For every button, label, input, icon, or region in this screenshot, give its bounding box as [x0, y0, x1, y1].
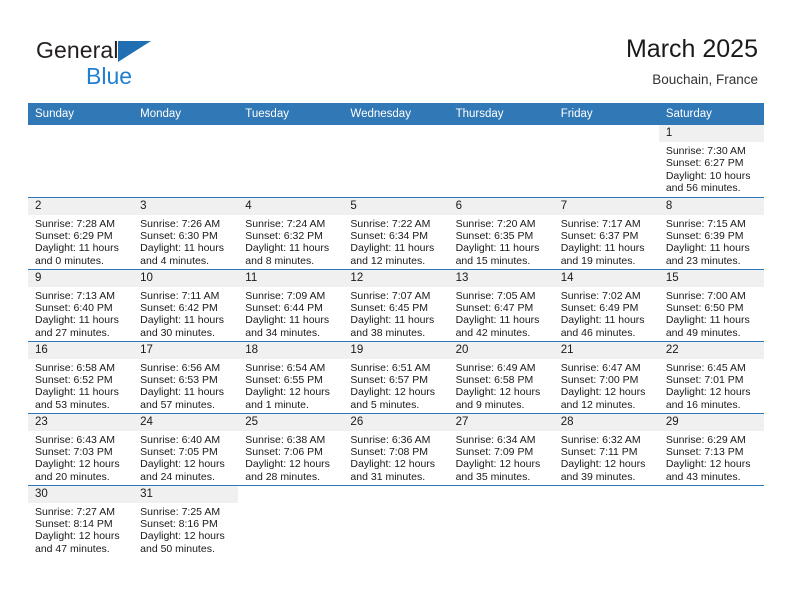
day-cell-inner: 25Sunrise: 6:38 AMSunset: 7:06 PMDayligh…	[238, 414, 343, 485]
day-number: 13	[449, 270, 554, 287]
day-info-sunrise: Sunrise: 7:22 AM	[350, 218, 444, 230]
weekday-header-monday: Monday	[133, 103, 238, 125]
day-number: 1	[659, 125, 764, 142]
page-title: March 2025	[626, 34, 758, 64]
day-info-daylight2: and 5 minutes.	[350, 399, 444, 411]
day-info-daylight2: and 28 minutes.	[245, 471, 339, 483]
day-info-sunset: Sunset: 7:11 PM	[561, 446, 655, 458]
calendar-week-row: 9Sunrise: 7:13 AMSunset: 6:40 PMDaylight…	[28, 269, 764, 341]
day-number: 12	[343, 270, 448, 287]
day-info: Sunrise: 7:20 AMSunset: 6:35 PMDaylight:…	[449, 215, 554, 268]
day-info-sunset: Sunset: 6:45 PM	[350, 302, 444, 314]
calendar-day-cell[interactable]: 14Sunrise: 7:02 AMSunset: 6:49 PMDayligh…	[554, 269, 659, 341]
title-block: March 2025 Bouchain, France	[626, 34, 758, 90]
day-number: 5	[343, 198, 448, 215]
day-info-sunrise: Sunrise: 7:09 AM	[245, 290, 339, 302]
day-info-sunset: Sunset: 8:16 PM	[140, 518, 234, 530]
page-header: General Blue March 2025 Bouchain, France	[0, 0, 792, 103]
day-number: 3	[133, 198, 238, 215]
day-info-daylight1: Daylight: 12 hours	[140, 458, 234, 470]
day-number: 31	[133, 486, 238, 503]
day-number: 16	[28, 342, 133, 359]
day-info-daylight1: Daylight: 11 hours	[140, 386, 234, 398]
day-info-sunrise: Sunrise: 6:29 AM	[666, 434, 760, 446]
day-info-daylight1: Daylight: 12 hours	[561, 386, 655, 398]
calendar-day-cell[interactable]: 18Sunrise: 6:54 AMSunset: 6:55 PMDayligh…	[238, 341, 343, 413]
day-info-sunset: Sunset: 6:58 PM	[456, 374, 550, 386]
day-info-sunrise: Sunrise: 6:51 AM	[350, 362, 444, 374]
calendar-table: Sunday Monday Tuesday Wednesday Thursday…	[28, 103, 764, 557]
day-info: Sunrise: 6:45 AMSunset: 7:01 PMDaylight:…	[659, 359, 764, 412]
day-info-sunrise: Sunrise: 7:17 AM	[561, 218, 655, 230]
day-info-daylight2: and 35 minutes.	[456, 471, 550, 483]
day-info: Sunrise: 7:11 AMSunset: 6:42 PMDaylight:…	[133, 287, 238, 340]
day-info-sunset: Sunset: 7:00 PM	[561, 374, 655, 386]
day-info-sunrise: Sunrise: 7:25 AM	[140, 506, 234, 518]
day-info-sunrise: Sunrise: 7:28 AM	[35, 218, 129, 230]
day-info-sunrise: Sunrise: 7:05 AM	[456, 290, 550, 302]
day-info-sunrise: Sunrise: 7:07 AM	[350, 290, 444, 302]
day-info: Sunrise: 6:32 AMSunset: 7:11 PMDaylight:…	[554, 431, 659, 484]
page-subtitle: Bouchain, France	[626, 70, 758, 90]
day-info-daylight2: and 50 minutes.	[140, 543, 234, 555]
day-info-sunrise: Sunrise: 6:32 AM	[561, 434, 655, 446]
day-info-sunrise: Sunrise: 6:40 AM	[140, 434, 234, 446]
day-number: 7	[554, 198, 659, 215]
day-info-daylight1: Daylight: 11 hours	[350, 242, 444, 254]
calendar-cell-empty	[449, 125, 554, 197]
day-cell-inner: 18Sunrise: 6:54 AMSunset: 6:55 PMDayligh…	[238, 342, 343, 413]
day-info-sunset: Sunset: 6:35 PM	[456, 230, 550, 242]
day-number: 29	[659, 414, 764, 431]
calendar-day-cell[interactable]: 8Sunrise: 7:15 AMSunset: 6:39 PMDaylight…	[659, 197, 764, 269]
day-info-sunrise: Sunrise: 6:56 AM	[140, 362, 234, 374]
day-info-sunset: Sunset: 6:29 PM	[35, 230, 129, 242]
day-number: 27	[449, 414, 554, 431]
day-info-daylight1: Daylight: 11 hours	[35, 314, 129, 326]
day-cell-inner: 1Sunrise: 7:30 AMSunset: 6:27 PMDaylight…	[659, 125, 764, 197]
day-info-daylight2: and 56 minutes.	[666, 182, 760, 194]
day-info-daylight2: and 34 minutes.	[245, 327, 339, 339]
day-info-sunset: Sunset: 7:03 PM	[35, 446, 129, 458]
day-info-sunset: Sunset: 8:14 PM	[35, 518, 129, 530]
day-cell-inner: 12Sunrise: 7:07 AMSunset: 6:45 PMDayligh…	[343, 270, 448, 341]
day-info-daylight1: Daylight: 12 hours	[245, 458, 339, 470]
weekday-header-wednesday: Wednesday	[343, 103, 448, 125]
day-info-sunset: Sunset: 6:57 PM	[350, 374, 444, 386]
weekday-header-saturday: Saturday	[659, 103, 764, 125]
day-info-daylight2: and 42 minutes.	[456, 327, 550, 339]
calendar-cell-empty	[343, 125, 448, 197]
day-info-daylight1: Daylight: 11 hours	[456, 242, 550, 254]
day-info-sunrise: Sunrise: 6:49 AM	[456, 362, 550, 374]
calendar-cell-empty	[554, 125, 659, 197]
day-info-daylight2: and 24 minutes.	[140, 471, 234, 483]
day-info-daylight2: and 39 minutes.	[561, 471, 655, 483]
calendar-day-cell[interactable]: 26Sunrise: 6:36 AMSunset: 7:08 PMDayligh…	[343, 413, 448, 485]
day-info: Sunrise: 7:15 AMSunset: 6:39 PMDaylight:…	[659, 215, 764, 268]
day-cell-inner: 6Sunrise: 7:20 AMSunset: 6:35 PMDaylight…	[449, 198, 554, 269]
brand-logo[interactable]: General Blue	[36, 38, 256, 88]
day-cell-inner: 10Sunrise: 7:11 AMSunset: 6:42 PMDayligh…	[133, 270, 238, 341]
day-number: 2	[28, 198, 133, 215]
day-info-sunrise: Sunrise: 6:34 AM	[456, 434, 550, 446]
day-info-daylight1: Daylight: 11 hours	[666, 314, 760, 326]
day-number: 20	[449, 342, 554, 359]
day-info: Sunrise: 7:00 AMSunset: 6:50 PMDaylight:…	[659, 287, 764, 340]
day-info: Sunrise: 7:05 AMSunset: 6:47 PMDaylight:…	[449, 287, 554, 340]
day-info-sunrise: Sunrise: 6:54 AM	[245, 362, 339, 374]
calendar-day-cell[interactable]: 1Sunrise: 7:30 AMSunset: 6:27 PMDaylight…	[659, 125, 764, 197]
day-info: Sunrise: 7:28 AMSunset: 6:29 PMDaylight:…	[28, 215, 133, 268]
day-info-daylight2: and 1 minute.	[245, 399, 339, 411]
day-number: 18	[238, 342, 343, 359]
day-info: Sunrise: 6:49 AMSunset: 6:58 PMDaylight:…	[449, 359, 554, 412]
calendar-day-cell[interactable]: 31Sunrise: 7:25 AMSunset: 8:16 PMDayligh…	[133, 485, 238, 557]
day-info-daylight1: Daylight: 11 hours	[666, 242, 760, 254]
day-cell-inner: 28Sunrise: 6:32 AMSunset: 7:11 PMDayligh…	[554, 414, 659, 485]
day-info-sunset: Sunset: 6:30 PM	[140, 230, 234, 242]
day-info-sunset: Sunset: 6:32 PM	[245, 230, 339, 242]
day-number: 11	[238, 270, 343, 287]
day-number: 24	[133, 414, 238, 431]
day-cell-inner: 2Sunrise: 7:28 AMSunset: 6:29 PMDaylight…	[28, 198, 133, 269]
day-cell-inner: 21Sunrise: 6:47 AMSunset: 7:00 PMDayligh…	[554, 342, 659, 413]
day-info-daylight1: Daylight: 12 hours	[456, 458, 550, 470]
day-number: 19	[343, 342, 448, 359]
calendar-day-cell[interactable]: 21Sunrise: 6:47 AMSunset: 7:00 PMDayligh…	[554, 341, 659, 413]
day-info-sunrise: Sunrise: 7:30 AM	[666, 145, 760, 157]
day-info: Sunrise: 7:22 AMSunset: 6:34 PMDaylight:…	[343, 215, 448, 268]
brand-logo-bottom: Blue	[36, 64, 256, 89]
day-number: 17	[133, 342, 238, 359]
day-info-daylight2: and 47 minutes.	[35, 543, 129, 555]
day-info-daylight2: and 30 minutes.	[140, 327, 234, 339]
day-cell-inner: 16Sunrise: 6:58 AMSunset: 6:52 PMDayligh…	[28, 342, 133, 413]
day-cell-inner: 17Sunrise: 6:56 AMSunset: 6:53 PMDayligh…	[133, 342, 238, 413]
day-cell-inner: 5Sunrise: 7:22 AMSunset: 6:34 PMDaylight…	[343, 198, 448, 269]
day-cell-inner: 20Sunrise: 6:49 AMSunset: 6:58 PMDayligh…	[449, 342, 554, 413]
calendar-day-cell[interactable]: 20Sunrise: 6:49 AMSunset: 6:58 PMDayligh…	[449, 341, 554, 413]
day-info: Sunrise: 6:54 AMSunset: 6:55 PMDaylight:…	[238, 359, 343, 412]
day-number: 28	[554, 414, 659, 431]
day-info: Sunrise: 7:25 AMSunset: 8:16 PMDaylight:…	[133, 503, 238, 556]
weekday-header-friday: Friday	[554, 103, 659, 125]
day-info-daylight2: and 23 minutes.	[666, 255, 760, 267]
day-cell-inner: 13Sunrise: 7:05 AMSunset: 6:47 PMDayligh…	[449, 270, 554, 341]
day-info-daylight2: and 38 minutes.	[350, 327, 444, 339]
day-info-daylight2: and 20 minutes.	[35, 471, 129, 483]
day-info-daylight1: Daylight: 12 hours	[666, 458, 760, 470]
day-info-sunset: Sunset: 6:27 PM	[666, 157, 760, 169]
calendar-day-cell[interactable]: 15Sunrise: 7:00 AMSunset: 6:50 PMDayligh…	[659, 269, 764, 341]
calendar-header-row: Sunday Monday Tuesday Wednesday Thursday…	[28, 103, 764, 125]
day-info: Sunrise: 7:09 AMSunset: 6:44 PMDaylight:…	[238, 287, 343, 340]
day-cell-inner: 31Sunrise: 7:25 AMSunset: 8:16 PMDayligh…	[133, 486, 238, 558]
day-info-daylight1: Daylight: 11 hours	[245, 314, 339, 326]
calendar-week-row: 2Sunrise: 7:28 AMSunset: 6:29 PMDaylight…	[28, 197, 764, 269]
day-info-sunset: Sunset: 7:13 PM	[666, 446, 760, 458]
triangle-flag-icon	[118, 41, 151, 62]
day-number: 6	[449, 198, 554, 215]
day-info: Sunrise: 7:13 AMSunset: 6:40 PMDaylight:…	[28, 287, 133, 340]
calendar-cell-empty	[659, 485, 764, 557]
day-info-sunset: Sunset: 6:34 PM	[350, 230, 444, 242]
day-info-sunrise: Sunrise: 7:15 AM	[666, 218, 760, 230]
day-cell-inner: 11Sunrise: 7:09 AMSunset: 6:44 PMDayligh…	[238, 270, 343, 341]
day-info: Sunrise: 7:30 AMSunset: 6:27 PMDaylight:…	[659, 142, 764, 195]
calendar-day-cell[interactable]: 29Sunrise: 6:29 AMSunset: 7:13 PMDayligh…	[659, 413, 764, 485]
calendar-day-cell[interactable]: 17Sunrise: 6:56 AMSunset: 6:53 PMDayligh…	[133, 341, 238, 413]
day-info-sunset: Sunset: 6:55 PM	[245, 374, 339, 386]
day-info-daylight1: Daylight: 12 hours	[35, 530, 129, 542]
day-number: 26	[343, 414, 448, 431]
calendar-cell-empty	[238, 125, 343, 197]
day-info: Sunrise: 6:38 AMSunset: 7:06 PMDaylight:…	[238, 431, 343, 484]
day-info-sunset: Sunset: 7:06 PM	[245, 446, 339, 458]
day-cell-inner: 30Sunrise: 7:27 AMSunset: 8:14 PMDayligh…	[28, 486, 133, 558]
day-number: 22	[659, 342, 764, 359]
day-info-sunrise: Sunrise: 7:20 AM	[456, 218, 550, 230]
day-cell-inner: 7Sunrise: 7:17 AMSunset: 6:37 PMDaylight…	[554, 198, 659, 269]
day-info-sunset: Sunset: 6:53 PM	[140, 374, 234, 386]
day-number: 10	[133, 270, 238, 287]
brand-name-blue: Blue	[86, 63, 132, 89]
calendar-day-cell[interactable]: 24Sunrise: 6:40 AMSunset: 7:05 PMDayligh…	[133, 413, 238, 485]
day-info-sunset: Sunset: 6:44 PM	[245, 302, 339, 314]
brand-name-general: General	[36, 37, 119, 63]
day-info-sunrise: Sunrise: 6:38 AM	[245, 434, 339, 446]
calendar-day-cell[interactable]: 30Sunrise: 7:27 AMSunset: 8:14 PMDayligh…	[28, 485, 133, 557]
day-info-sunrise: Sunrise: 7:00 AM	[666, 290, 760, 302]
calendar-week-row: 30Sunrise: 7:27 AMSunset: 8:14 PMDayligh…	[28, 485, 764, 557]
day-info: Sunrise: 7:24 AMSunset: 6:32 PMDaylight:…	[238, 215, 343, 268]
day-cell-inner: 14Sunrise: 7:02 AMSunset: 6:49 PMDayligh…	[554, 270, 659, 341]
day-info-daylight2: and 4 minutes.	[140, 255, 234, 267]
day-info-sunrise: Sunrise: 7:24 AM	[245, 218, 339, 230]
weekday-header-thursday: Thursday	[449, 103, 554, 125]
calendar-day-cell[interactable]: 6Sunrise: 7:20 AMSunset: 6:35 PMDaylight…	[449, 197, 554, 269]
day-info-sunset: Sunset: 6:42 PM	[140, 302, 234, 314]
calendar-page: General Blue March 2025 Bouchain, France…	[0, 0, 792, 612]
calendar-cell-empty	[133, 125, 238, 197]
day-info-daylight2: and 12 minutes.	[561, 399, 655, 411]
day-number: 8	[659, 198, 764, 215]
day-info-sunset: Sunset: 6:39 PM	[666, 230, 760, 242]
day-info-sunset: Sunset: 6:40 PM	[35, 302, 129, 314]
calendar-day-cell[interactable]: 2Sunrise: 7:28 AMSunset: 6:29 PMDaylight…	[28, 197, 133, 269]
day-info-sunrise: Sunrise: 7:13 AM	[35, 290, 129, 302]
day-info-sunset: Sunset: 7:08 PM	[350, 446, 444, 458]
day-info-sunrise: Sunrise: 7:27 AM	[35, 506, 129, 518]
day-info-sunrise: Sunrise: 6:45 AM	[666, 362, 760, 374]
day-info-sunset: Sunset: 6:52 PM	[35, 374, 129, 386]
calendar-day-cell[interactable]: 28Sunrise: 6:32 AMSunset: 7:11 PMDayligh…	[554, 413, 659, 485]
day-cell-inner: 29Sunrise: 6:29 AMSunset: 7:13 PMDayligh…	[659, 414, 764, 485]
day-info-daylight2: and 19 minutes.	[561, 255, 655, 267]
day-info-sunset: Sunset: 7:01 PM	[666, 374, 760, 386]
day-cell-inner: 3Sunrise: 7:26 AMSunset: 6:30 PMDaylight…	[133, 198, 238, 269]
day-info-sunset: Sunset: 6:47 PM	[456, 302, 550, 314]
calendar-day-cell[interactable]: 16Sunrise: 6:58 AMSunset: 6:52 PMDayligh…	[28, 341, 133, 413]
day-info-daylight1: Daylight: 11 hours	[561, 314, 655, 326]
calendar-day-cell[interactable]: 13Sunrise: 7:05 AMSunset: 6:47 PMDayligh…	[449, 269, 554, 341]
calendar-day-cell[interactable]: 9Sunrise: 7:13 AMSunset: 6:40 PMDaylight…	[28, 269, 133, 341]
day-cell-inner: 23Sunrise: 6:43 AMSunset: 7:03 PMDayligh…	[28, 414, 133, 485]
day-info-sunrise: Sunrise: 7:02 AM	[561, 290, 655, 302]
day-info-daylight1: Daylight: 11 hours	[35, 386, 129, 398]
day-info-daylight1: Daylight: 12 hours	[666, 386, 760, 398]
calendar-day-cell[interactable]: 10Sunrise: 7:11 AMSunset: 6:42 PMDayligh…	[133, 269, 238, 341]
day-info-sunrise: Sunrise: 6:58 AM	[35, 362, 129, 374]
day-info-daylight1: Daylight: 12 hours	[350, 458, 444, 470]
day-info-daylight2: and 49 minutes.	[666, 327, 760, 339]
day-cell-inner: 19Sunrise: 6:51 AMSunset: 6:57 PMDayligh…	[343, 342, 448, 413]
day-cell-inner: 24Sunrise: 6:40 AMSunset: 7:05 PMDayligh…	[133, 414, 238, 485]
calendar-day-cell[interactable]: 25Sunrise: 6:38 AMSunset: 7:06 PMDayligh…	[238, 413, 343, 485]
day-info-daylight2: and 12 minutes.	[350, 255, 444, 267]
day-info: Sunrise: 6:36 AMSunset: 7:08 PMDaylight:…	[343, 431, 448, 484]
calendar-day-cell[interactable]: 5Sunrise: 7:22 AMSunset: 6:34 PMDaylight…	[343, 197, 448, 269]
calendar-cell-empty	[28, 125, 133, 197]
day-info: Sunrise: 6:29 AMSunset: 7:13 PMDaylight:…	[659, 431, 764, 484]
day-info-sunset: Sunset: 7:09 PM	[456, 446, 550, 458]
day-info-sunrise: Sunrise: 7:11 AM	[140, 290, 234, 302]
day-info-daylight2: and 8 minutes.	[245, 255, 339, 267]
day-info-sunset: Sunset: 6:49 PM	[561, 302, 655, 314]
day-info-daylight2: and 9 minutes.	[456, 399, 550, 411]
weekday-header-sunday: Sunday	[28, 103, 133, 125]
day-cell-inner: 22Sunrise: 6:45 AMSunset: 7:01 PMDayligh…	[659, 342, 764, 413]
day-info: Sunrise: 7:07 AMSunset: 6:45 PMDaylight:…	[343, 287, 448, 340]
calendar-day-cell[interactable]: 23Sunrise: 6:43 AMSunset: 7:03 PMDayligh…	[28, 413, 133, 485]
day-cell-inner: 8Sunrise: 7:15 AMSunset: 6:39 PMDaylight…	[659, 198, 764, 269]
day-info: Sunrise: 7:17 AMSunset: 6:37 PMDaylight:…	[554, 215, 659, 268]
day-info: Sunrise: 6:51 AMSunset: 6:57 PMDaylight:…	[343, 359, 448, 412]
day-info-sunset: Sunset: 7:05 PM	[140, 446, 234, 458]
calendar-day-cell[interactable]: 12Sunrise: 7:07 AMSunset: 6:45 PMDayligh…	[343, 269, 448, 341]
calendar-day-cell[interactable]: 22Sunrise: 6:45 AMSunset: 7:01 PMDayligh…	[659, 341, 764, 413]
day-number: 4	[238, 198, 343, 215]
calendar-week-row: 23Sunrise: 6:43 AMSunset: 7:03 PMDayligh…	[28, 413, 764, 485]
day-info-daylight2: and 31 minutes.	[350, 471, 444, 483]
day-info-daylight1: Daylight: 12 hours	[140, 530, 234, 542]
calendar-cell-empty	[449, 485, 554, 557]
calendar-day-cell[interactable]: 27Sunrise: 6:34 AMSunset: 7:09 PMDayligh…	[449, 413, 554, 485]
day-info-daylight2: and 0 minutes.	[35, 255, 129, 267]
day-info-daylight1: Daylight: 12 hours	[456, 386, 550, 398]
day-info-sunrise: Sunrise: 6:47 AM	[561, 362, 655, 374]
day-cell-inner: 4Sunrise: 7:24 AMSunset: 6:32 PMDaylight…	[238, 198, 343, 269]
day-info-daylight1: Daylight: 11 hours	[140, 314, 234, 326]
day-info: Sunrise: 6:58 AMSunset: 6:52 PMDaylight:…	[28, 359, 133, 412]
day-info-daylight1: Daylight: 12 hours	[35, 458, 129, 470]
day-info-sunrise: Sunrise: 7:26 AM	[140, 218, 234, 230]
day-info: Sunrise: 7:02 AMSunset: 6:49 PMDaylight:…	[554, 287, 659, 340]
calendar-day-cell[interactable]: 11Sunrise: 7:09 AMSunset: 6:44 PMDayligh…	[238, 269, 343, 341]
day-info-daylight1: Daylight: 11 hours	[35, 242, 129, 254]
day-cell-inner: 15Sunrise: 7:00 AMSunset: 6:50 PMDayligh…	[659, 270, 764, 341]
calendar-body: 1Sunrise: 7:30 AMSunset: 6:27 PMDaylight…	[28, 125, 764, 557]
day-info-daylight2: and 16 minutes.	[666, 399, 760, 411]
day-info-daylight1: Daylight: 12 hours	[245, 386, 339, 398]
day-info-daylight1: Daylight: 11 hours	[456, 314, 550, 326]
calendar-week-row: 16Sunrise: 6:58 AMSunset: 6:52 PMDayligh…	[28, 341, 764, 413]
day-number: 21	[554, 342, 659, 359]
day-info: Sunrise: 6:47 AMSunset: 7:00 PMDaylight:…	[554, 359, 659, 412]
day-info-daylight2: and 15 minutes.	[456, 255, 550, 267]
brand-logo-top: General	[36, 38, 256, 63]
day-info: Sunrise: 6:43 AMSunset: 7:03 PMDaylight:…	[28, 431, 133, 484]
day-info-sunrise: Sunrise: 6:43 AM	[35, 434, 129, 446]
day-info: Sunrise: 7:27 AMSunset: 8:14 PMDaylight:…	[28, 503, 133, 556]
day-info-daylight1: Daylight: 12 hours	[350, 386, 444, 398]
calendar-day-cell[interactable]: 19Sunrise: 6:51 AMSunset: 6:57 PMDayligh…	[343, 341, 448, 413]
calendar-day-cell[interactable]: 3Sunrise: 7:26 AMSunset: 6:30 PMDaylight…	[133, 197, 238, 269]
day-cell-inner: 26Sunrise: 6:36 AMSunset: 7:08 PMDayligh…	[343, 414, 448, 485]
calendar-cell-empty	[238, 485, 343, 557]
calendar-cell-empty	[343, 485, 448, 557]
day-number: 15	[659, 270, 764, 287]
day-info-sunrise: Sunrise: 6:36 AM	[350, 434, 444, 446]
calendar-day-cell[interactable]: 4Sunrise: 7:24 AMSunset: 6:32 PMDaylight…	[238, 197, 343, 269]
day-cell-inner: 9Sunrise: 7:13 AMSunset: 6:40 PMDaylight…	[28, 270, 133, 341]
day-number: 23	[28, 414, 133, 431]
day-info-daylight2: and 43 minutes.	[666, 471, 760, 483]
day-info-sunset: Sunset: 6:50 PM	[666, 302, 760, 314]
day-info-daylight1: Daylight: 11 hours	[140, 242, 234, 254]
calendar-cell-empty	[554, 485, 659, 557]
day-number: 14	[554, 270, 659, 287]
day-info-daylight1: Daylight: 11 hours	[245, 242, 339, 254]
calendar-day-cell[interactable]: 7Sunrise: 7:17 AMSunset: 6:37 PMDaylight…	[554, 197, 659, 269]
day-info-daylight1: Daylight: 11 hours	[561, 242, 655, 254]
day-info-daylight2: and 46 minutes.	[561, 327, 655, 339]
day-info-sunset: Sunset: 6:37 PM	[561, 230, 655, 242]
day-info-daylight1: Daylight: 11 hours	[350, 314, 444, 326]
day-info-daylight2: and 53 minutes.	[35, 399, 129, 411]
day-number: 9	[28, 270, 133, 287]
day-info-daylight2: and 27 minutes.	[35, 327, 129, 339]
day-info: Sunrise: 6:34 AMSunset: 7:09 PMDaylight:…	[449, 431, 554, 484]
day-number: 30	[28, 486, 133, 503]
calendar-week-row: 1Sunrise: 7:30 AMSunset: 6:27 PMDaylight…	[28, 125, 764, 197]
day-info: Sunrise: 7:26 AMSunset: 6:30 PMDaylight:…	[133, 215, 238, 268]
day-info-daylight2: and 57 minutes.	[140, 399, 234, 411]
day-info-daylight1: Daylight: 10 hours	[666, 170, 760, 182]
day-info: Sunrise: 6:56 AMSunset: 6:53 PMDaylight:…	[133, 359, 238, 412]
weekday-header-tuesday: Tuesday	[238, 103, 343, 125]
day-cell-inner: 27Sunrise: 6:34 AMSunset: 7:09 PMDayligh…	[449, 414, 554, 485]
day-info: Sunrise: 6:40 AMSunset: 7:05 PMDaylight:…	[133, 431, 238, 484]
day-number: 25	[238, 414, 343, 431]
day-info-daylight1: Daylight: 12 hours	[561, 458, 655, 470]
